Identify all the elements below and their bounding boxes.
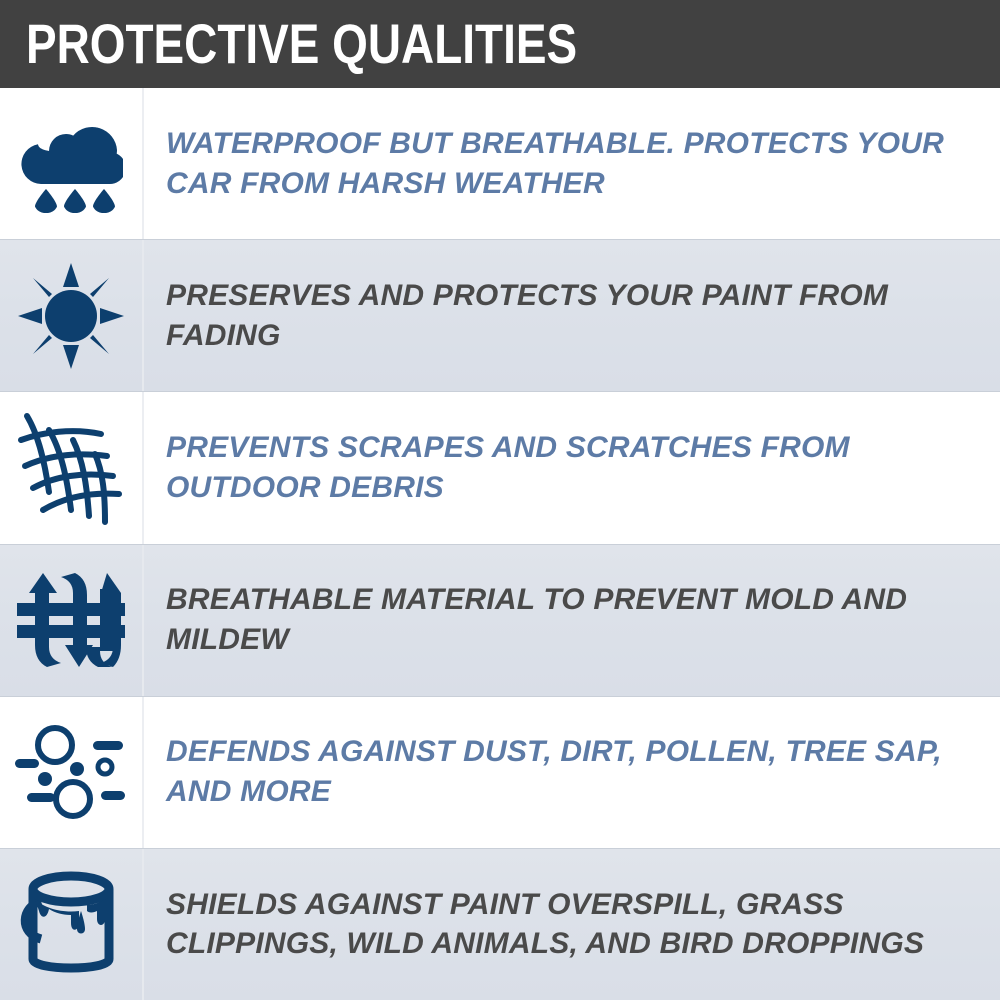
protective-qualities-infographic: PROTECTIVE QUALITIES WAT (0, 0, 1000, 1000)
feature-icon-cell (0, 88, 144, 239)
dust-particles-icon (15, 723, 127, 821)
feature-row: BREATHABLE MATERIAL TO PREVENT MOLD AND … (0, 545, 1000, 697)
feature-icon-cell (0, 545, 144, 696)
feature-text-cell: SHIELDS AGAINST PAINT OVERSPILL, GRASS C… (144, 849, 1000, 1000)
header-bar: PROTECTIVE QUALITIES (0, 0, 1000, 88)
feature-icon-cell (0, 697, 144, 848)
feature-text-cell: DEFENDS AGAINST DUST, DIRT, POLLEN, TREE… (144, 697, 1000, 848)
feature-row: WATERPROOF BUT BREATHABLE. PROTECTS YOUR… (0, 88, 1000, 240)
rain-cloud-icon (19, 115, 123, 213)
feature-text: SHIELDS AGAINST PAINT OVERSPILL, GRASS C… (166, 885, 982, 965)
feature-text: WATERPROOF BUT BREATHABLE. PROTECTS YOUR… (166, 124, 982, 204)
feature-row: SHIELDS AGAINST PAINT OVERSPILL, GRASS C… (0, 849, 1000, 1000)
breathable-airflow-arrows-icon (17, 567, 125, 673)
feature-list: WATERPROOF BUT BREATHABLE. PROTECTS YOUR… (0, 88, 1000, 1000)
sun-icon (18, 263, 124, 369)
feature-text-cell: PREVENTS SCRAPES AND SCRATCHES FROM OUTD… (144, 392, 1000, 543)
feature-row: PRESERVES AND PROTECTS YOUR PAINT FROM F… (0, 240, 1000, 392)
feature-text: PRESERVES AND PROTECTS YOUR PAINT FROM F… (166, 276, 982, 356)
feature-text-cell: BREATHABLE MATERIAL TO PREVENT MOLD AND … (144, 545, 1000, 696)
scratch-mesh-icon (15, 410, 127, 526)
feature-row: PREVENTS SCRAPES AND SCRATCHES FROM OUTD… (0, 392, 1000, 544)
feature-text: PREVENTS SCRAPES AND SCRATCHES FROM OUTD… (166, 428, 982, 508)
page-title: PROTECTIVE QUALITIES (26, 16, 577, 72)
feature-text: BREATHABLE MATERIAL TO PREVENT MOLD AND … (166, 580, 982, 660)
feature-text-cell: PRESERVES AND PROTECTS YOUR PAINT FROM F… (144, 240, 1000, 391)
feature-text: DEFENDS AGAINST DUST, DIRT, POLLEN, TREE… (166, 732, 982, 812)
feature-icon-cell (0, 849, 144, 1000)
feature-row: DEFENDS AGAINST DUST, DIRT, POLLEN, TREE… (0, 697, 1000, 849)
feature-icon-cell (0, 240, 144, 391)
feature-icon-cell (0, 392, 144, 543)
feature-text-cell: WATERPROOF BUT BREATHABLE. PROTECTS YOUR… (144, 88, 1000, 239)
paint-can-icon (19, 871, 123, 977)
